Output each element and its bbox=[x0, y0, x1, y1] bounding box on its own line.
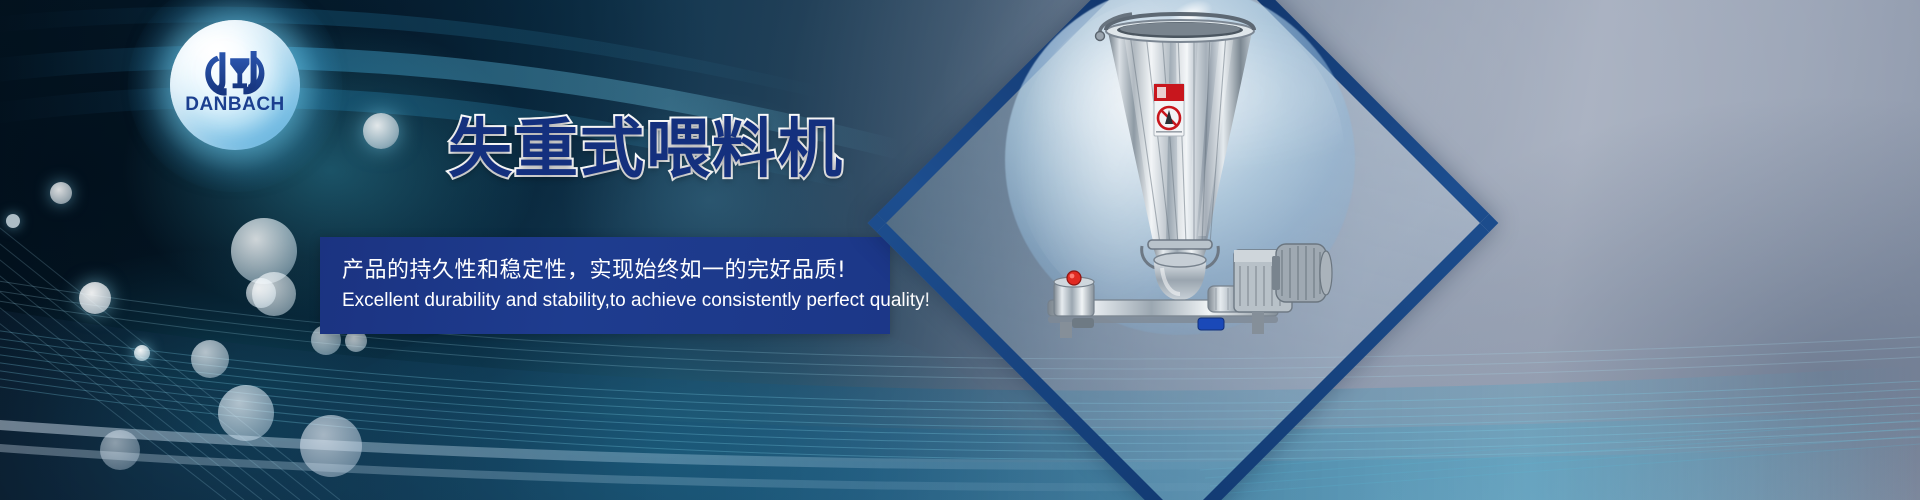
tagline-box: 产品的持久性和稳定性，实现始终如一的完好品质! Excellent durabi… bbox=[320, 237, 890, 334]
product-banner: DANBACH 失重式喂料机 产品的持久性和稳定性，实现始终如一的完好品质! E… bbox=[0, 0, 1920, 500]
tagline-chinese: 产品的持久性和稳定性，实现始终如一的完好品质! bbox=[342, 252, 846, 284]
brand-logo[interactable]: DANBACH bbox=[170, 20, 300, 150]
product-showcase bbox=[900, 0, 1520, 500]
no-entry-warning-label bbox=[1154, 84, 1184, 136]
loss-in-weight-feeder-machine-image bbox=[1020, 0, 1340, 360]
tagline-english: Excellent durability and stability,to ac… bbox=[342, 290, 930, 312]
brand-name: DANBACH bbox=[170, 94, 300, 116]
page-title: 失重式喂料机 bbox=[448, 118, 844, 182]
